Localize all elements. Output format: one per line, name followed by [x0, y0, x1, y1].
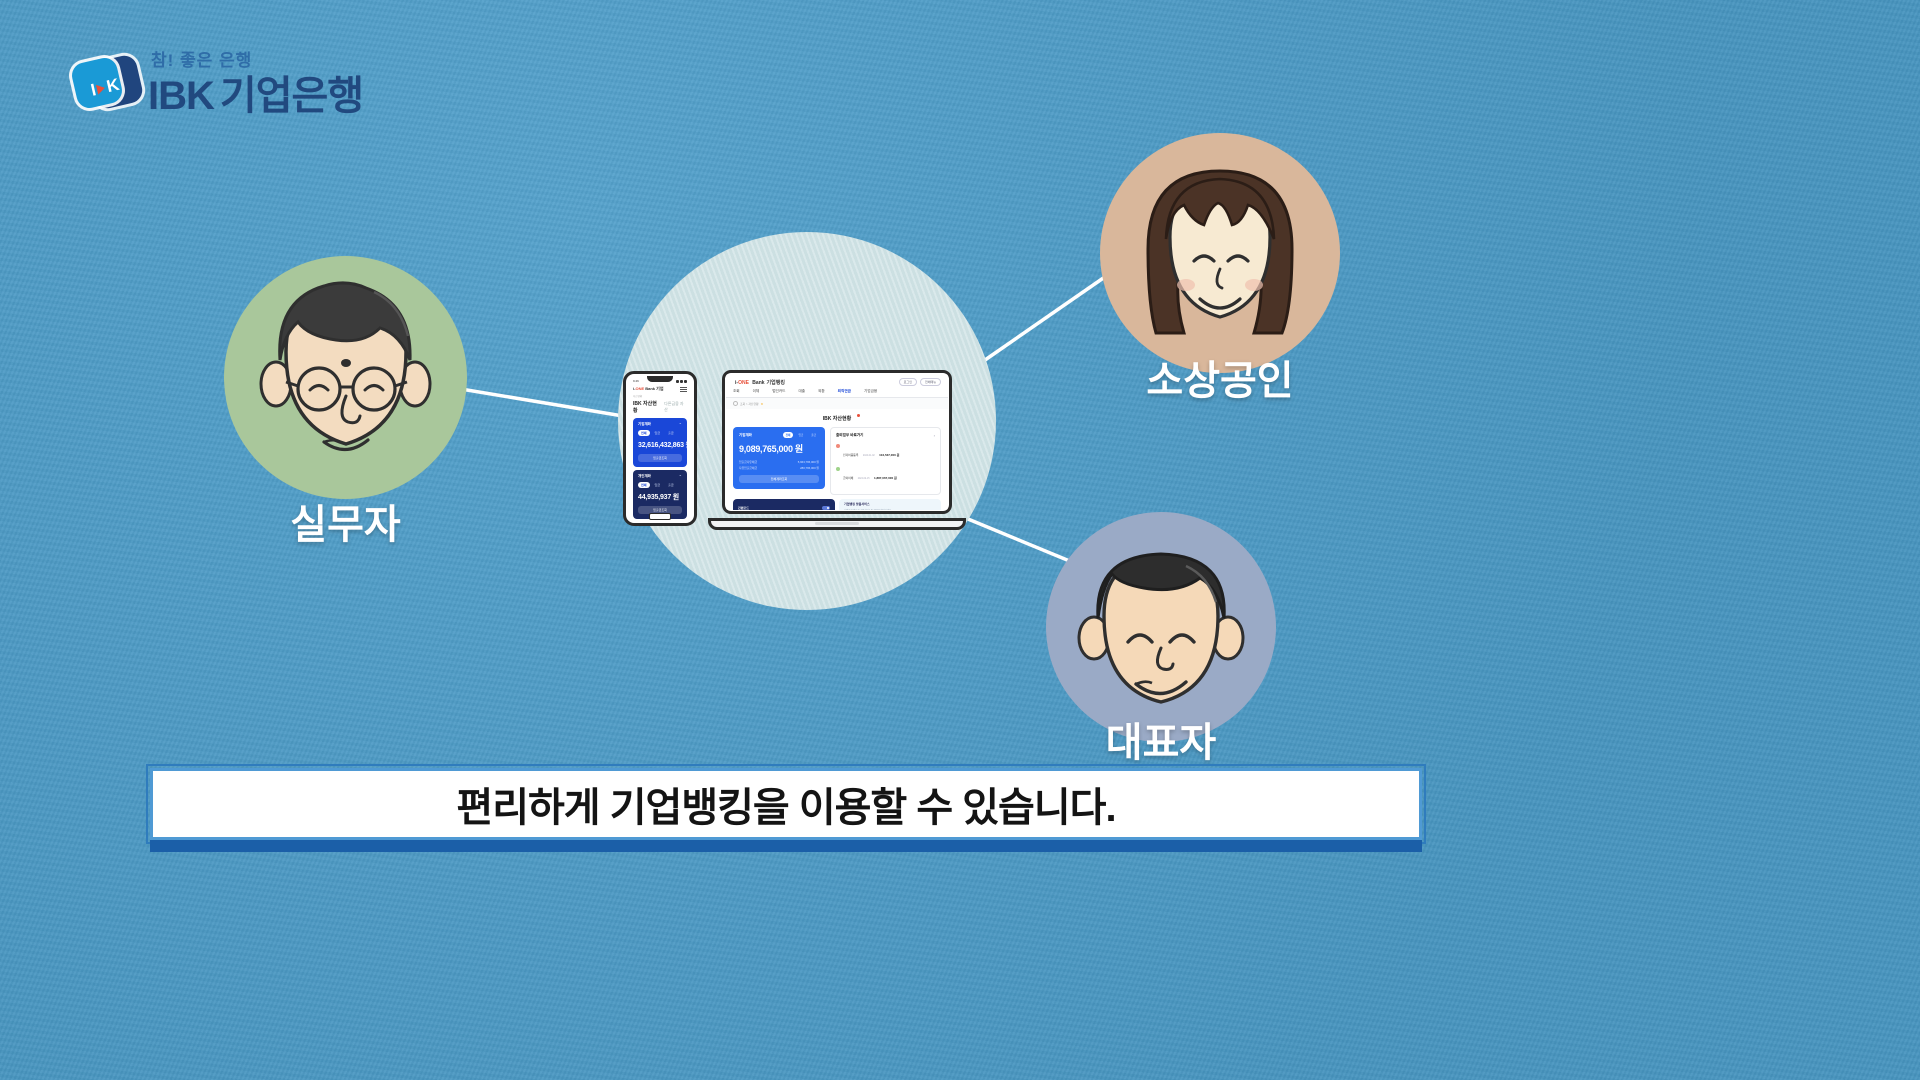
subtitle-bar: 편리하게 기업뱅킹을 이용할 수 있습니다. [150, 768, 1422, 840]
laptop-allmenu-button[interactable]: 전체메뉴 [920, 378, 941, 386]
laptop-balance-row-0-value: 5,963,765,000 원 [798, 460, 819, 464]
logo-monogram: I K [67, 50, 144, 127]
avatar-staff: 실무자 [224, 256, 467, 499]
laptop-main-nav: 조회 이체 법인카드 대출 외환 퇴직연금 기업금융 [726, 389, 948, 398]
laptop-side-item-1[interactable]: 급여이체 2024-02-15 1,887,067,000 원 [836, 466, 935, 484]
connector-lines [0, 0, 1920, 1080]
laptop-nav-item-1[interactable]: 이체 [753, 389, 760, 394]
phone-biz-filter-pills: 전체 입금 출금 [638, 430, 682, 436]
laptop-mockup: i-ONE Bank기업뱅킹 로그인 전체메뉴 조회 이체 법인카드 대출 외환… [708, 370, 966, 530]
laptop-promo-title: 기업뱅킹 맞춤서비스 [844, 502, 936, 506]
subtitle-shadow-bar [150, 840, 1422, 852]
home-icon [733, 401, 738, 406]
laptop-side-item-1-text: 급여이체 2024-02-15 1,887,067,000 원 [843, 466, 897, 484]
laptop-brand-suffix: 기업뱅킹 [767, 380, 785, 386]
logo-triangle-icon [96, 83, 106, 95]
phone-page-title: IBK 자산현황 다른금융 자산 [628, 400, 692, 418]
laptop-balance-rows: 입출금자유예금 5,963,765,000 원 자유입출금예금 280,765,… [739, 460, 819, 470]
laptop-promo-banner[interactable]: 기업뱅킹 맞춤서비스 사업자에 필요한 금융서비스를 한번에 확인하세요 [839, 499, 941, 510]
laptop-balance-cta[interactable]: 전체계좌조회 [739, 475, 819, 483]
avatar-staff-face [224, 256, 467, 499]
laptop-balance-card[interactable]: 기업계좌 전체 입금 출금 9,089,765,000 원 입출금자유예금 [733, 427, 825, 489]
phone-title-main: IBK 자산현황 [633, 400, 661, 414]
logo-letter-k: K [105, 75, 121, 97]
laptop-nav-item-4[interactable]: 외환 [818, 389, 825, 394]
chevron-right-icon[interactable]: › [934, 433, 935, 438]
laptop-nav-item-5[interactable]: 퇴직연금 [838, 389, 851, 394]
laptop-balance-row-0-name: 입출금자유예금 [739, 460, 757, 464]
laptop-balance-row-1: 자유입출금예금 280,765,000 원 [739, 466, 819, 470]
laptop-brand: i-ONE Bank기업뱅킹 [733, 379, 785, 386]
avatar-owner-face [1100, 133, 1340, 373]
laptop-simple-mode-label: 간편모드 [738, 506, 749, 510]
laptop-login-button[interactable]: 로그인 [899, 378, 917, 386]
laptop-balance-card-head: 기업계좌 전체 입금 출금 [739, 432, 819, 438]
laptop-balance-row-1-name: 자유입출금예금 [739, 466, 757, 470]
laptop-nav-item-2[interactable]: 법인카드 [772, 389, 785, 394]
laptop-page-title: IBK 자산현황 [726, 409, 948, 427]
laptop-screen: i-ONE Bank기업뱅킹 로그인 전체메뉴 조회 이체 법인카드 대출 외환… [722, 370, 952, 514]
laptop-nav-item-3[interactable]: 대출 [798, 389, 805, 394]
logo-wordmark: IBK기업은행 [148, 76, 363, 116]
laptop-side-panel: 출퇴업무 바로가기 › 전자어음등록 2024-01-02 104,537,00… [830, 427, 941, 495]
background-texture [0, 0, 1920, 1080]
status-dot-icon-green [836, 467, 840, 471]
phone-biz-pill-in[interactable]: 입금 [652, 430, 664, 436]
phone-biz-card-head: 기업계좌 ⌃ [638, 422, 682, 427]
avatar-staff-label: 실무자 [290, 492, 400, 550]
phone-screen: 9:46 i-ONE Bank 기업 자산현황 IBK 자산현황 다른금융 자산… [628, 376, 692, 521]
laptop-balance-pill-in[interactable]: 입금 [795, 432, 806, 438]
toggle-switch-icon[interactable] [822, 506, 830, 510]
laptop-nav-item-0[interactable]: 조회 [733, 389, 740, 394]
laptop-side-item-0[interactable]: 전자어음등록 2024-01-02 104,537,000 원 [836, 443, 935, 461]
phone-biz-cta-button[interactable]: 입출금조회 [638, 454, 682, 462]
laptop-brand-one: ONE [738, 380, 749, 386]
avatar-ceo-label: 대표자 [1106, 710, 1216, 768]
laptop-balance-pills: 전체 입금 출금 [783, 432, 819, 438]
laptop-breadcrumb-text: 조회 > 자산현황 [740, 402, 759, 406]
phone-biz-card-label: 기업계좌 [638, 422, 651, 427]
avatar-ceo-face [1046, 512, 1276, 742]
avatar-owner-label: 소상공인 [1146, 348, 1293, 406]
logo-wordmark-kr: 기업은행 [220, 74, 363, 118]
phone-business-account-card[interactable]: 기업계좌 ⌃ 전체 입금 출금 32,616,432,863 원 입출금조회 [633, 418, 687, 467]
laptop-side-item-1-date: 2024-02-15 [858, 478, 870, 480]
laptop-body: 기업계좌 전체 입금 출금 9,089,765,000 원 입출금자유예금 [726, 427, 948, 495]
laptop-side-panel-title: 출퇴업무 바로가기 [836, 433, 863, 438]
laptop-left-column: 기업계좌 전체 입금 출금 9,089,765,000 원 입출금자유예금 [733, 427, 825, 495]
laptop-balance-label: 기업계좌 [739, 433, 752, 438]
laptop-balance-pill-out[interactable]: 출금 [808, 432, 819, 438]
laptop-footer: 간편모드 기업뱅킹 맞춤서비스 사업자에 필요한 금융서비스를 한번에 확인하세… [726, 495, 948, 510]
laptop-side-panel-header: 출퇴업무 바로가기 › [836, 433, 935, 438]
subtitle-text: 편리하게 기업뱅킹을 이용할 수 있습니다. [456, 775, 1115, 833]
ibk-logo-mark: I K [72, 52, 136, 116]
logo-text-block: 참! 좋은 은행 IBK기업은행 [148, 52, 363, 116]
phone-status-icons [676, 380, 687, 383]
laptop-balance-row-1-value: 280,765,000 원 [800, 466, 819, 470]
logo-letter-i: I [89, 80, 98, 100]
laptop-site-header: i-ONE Bank기업뱅킹 로그인 전체메뉴 [726, 374, 948, 389]
laptop-side-item-0-text: 전자어음등록 2024-01-02 104,537,000 원 [843, 443, 899, 461]
phone-brand-bank: Bank [645, 386, 655, 391]
laptop-side-item-1-value: 1,887,067,000 원 [874, 476, 897, 480]
avatar-owner: 소상공인 [1100, 133, 1340, 373]
status-dot-icon-red [836, 444, 840, 448]
phone-biz-pill-out[interactable]: 출금 [665, 430, 677, 436]
phone-app-brand: i-ONE Bank 기업 [633, 386, 664, 392]
chevron-up-icon-2[interactable]: ⌃ [679, 475, 682, 479]
chevron-up-icon[interactable]: ⌃ [679, 423, 682, 427]
phone-brand-suffix: 기업 [656, 386, 663, 391]
laptop-side-item-1-name: 급여이체 [843, 476, 853, 480]
phone-status-time: 9:46 [633, 379, 639, 383]
phone-per-pill-out[interactable]: 출금 [665, 482, 677, 488]
phone-per-filter-pills: 전체 입금 출금 [638, 482, 682, 488]
laptop-side-item-0-value: 104,537,000 원 [879, 453, 899, 457]
laptop-balance-row-0: 입출금자유예금 5,963,765,000 원 [739, 460, 819, 464]
avatar-ceo: 대표자 [1046, 512, 1276, 742]
laptop-balance-pill-all[interactable]: 전체 [783, 432, 794, 438]
laptop-nav-item-6[interactable]: 기업금융 [864, 389, 877, 394]
phone-personal-account-card[interactable]: 개인계좌 ⌃ 전체 입금 출금 44,935,937 원 입출금조회 [633, 470, 687, 519]
phone-per-amount: 44,935,937 원 [638, 492, 682, 502]
logo-tagline: 참! 좋은 은행 [151, 52, 363, 69]
phone-notch [647, 376, 673, 382]
ibk-logo: I K 참! 좋은 은행 IBK기업은행 [72, 52, 363, 116]
laptop-simple-mode-toggle[interactable]: 간편모드 [733, 499, 835, 510]
phone-per-pill-in[interactable]: 입금 [652, 482, 664, 488]
phone-brand-one: ONE [635, 386, 644, 391]
phone-biz-pill-all[interactable]: 전체 [638, 430, 650, 436]
phone-home-button [649, 513, 671, 520]
laptop-header-actions: 로그인 전체메뉴 [899, 378, 941, 386]
laptop-breadcrumb: 조회 > 자산현황 ★ [726, 398, 948, 409]
laptop-balance-amount: 9,089,765,000 원 [739, 442, 819, 455]
phone-per-card-head: 개인계좌 ⌃ [638, 474, 682, 479]
phone-per-pill-all[interactable]: 전체 [638, 482, 650, 488]
phone-app-header: i-ONE Bank 기업 [628, 383, 692, 394]
laptop-side-item-0-name: 전자어음등록 [843, 453, 858, 457]
smartphone-mockup: 9:46 i-ONE Bank 기업 자산현황 IBK 자산현황 다른금융 자산… [623, 371, 697, 526]
laptop-screen-content: i-ONE Bank기업뱅킹 로그인 전체메뉴 조회 이체 법인카드 대출 외환… [726, 374, 948, 510]
laptop-promo-sub: 사업자에 필요한 금융서비스를 한번에 확인하세요 [844, 508, 936, 510]
star-icon[interactable]: ★ [761, 402, 764, 406]
phone-title-sub: 다른금융 자산 [664, 401, 687, 413]
laptop-base [708, 518, 966, 530]
laptop-brand-bank: Bank [752, 380, 764, 386]
laptop-side-item-0-date: 2024-01-02 [863, 455, 875, 457]
logo-wordmark-en: IBK [148, 74, 214, 118]
phone-biz-amount: 32,616,432,863 원 [638, 440, 682, 450]
phone-per-card-label: 개인계좌 [638, 474, 651, 479]
phone-menu-icon[interactable] [680, 387, 687, 392]
